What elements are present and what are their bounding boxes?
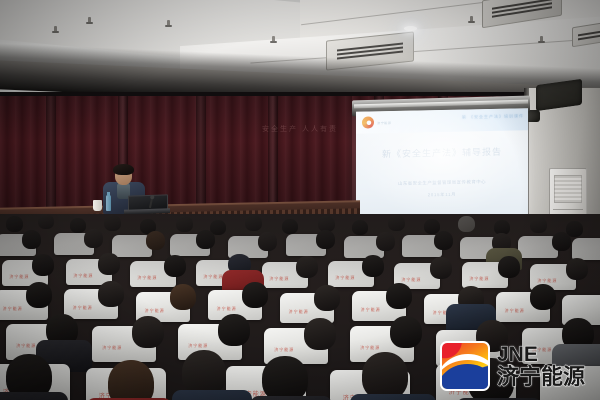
sprinkler-head — [54, 26, 57, 32]
ac-grille — [554, 175, 582, 203]
seat-cover-text: 济宁能源 — [361, 307, 381, 313]
watermark-text: JNE 济宁能源 — [497, 344, 585, 389]
audience-head — [390, 316, 422, 348]
seat-cover-text: 济宁能源 — [537, 278, 557, 284]
spiral-logo-icon — [362, 116, 374, 128]
audience-head — [566, 258, 588, 280]
audience-head — [84, 229, 103, 248]
seat-cover-text: 济宁能源 — [274, 347, 294, 353]
seat-cover-text: 济宁能源 — [102, 345, 122, 351]
audience-head — [242, 282, 268, 308]
audience-head — [70, 218, 86, 233]
seat-cover-text: 济宁能源 — [269, 276, 289, 282]
audience-head — [108, 360, 154, 400]
watermark: JNE 济宁能源 — [440, 341, 585, 391]
presenter-hair — [113, 164, 134, 175]
slide-subtitle-org: 山东省安全生产监督管理局宣传教育中心 — [356, 178, 528, 188]
audience-head — [362, 352, 408, 400]
slide-title: 新《安全生产法》辅导报告 — [356, 144, 528, 161]
audience-head — [22, 230, 41, 249]
audience-head — [98, 281, 124, 307]
audience-head — [352, 220, 368, 235]
audience-shoulders — [0, 392, 68, 400]
audience-head — [430, 257, 452, 279]
audience-shoulders — [172, 390, 252, 400]
seat-cover-text: 济宁能源 — [335, 275, 355, 281]
sprinkler-head — [88, 17, 91, 23]
seat-cover-text: 济宁能源 — [137, 275, 157, 281]
sprinkler-head — [540, 36, 543, 42]
audience-head — [245, 215, 262, 231]
audience-head — [32, 254, 54, 276]
ceiling-downlight — [404, 26, 417, 31]
seat-cover-text: 济宁能源 — [401, 277, 421, 283]
wall-speaker-small — [526, 110, 540, 122]
back-wall-text: 安全生产 人人有责 — [262, 124, 338, 134]
seat-cover-text: 济宁能源 — [9, 274, 29, 280]
audience-head — [530, 217, 547, 233]
audience-head — [104, 215, 121, 231]
conference-hall-photo: 安全生产 人人有责 济宁能源 第 《安全生产法》培训课件 新《安全生产法》辅导报… — [0, 0, 600, 400]
audience-head — [26, 282, 52, 308]
seat-cover-text: 济宁能源 — [145, 308, 165, 314]
audience-head — [530, 284, 556, 310]
audience-head — [552, 232, 571, 251]
seat-cover-text: 济宁能源 — [360, 345, 380, 351]
audience-head — [386, 283, 412, 309]
audience-shoulders — [350, 394, 436, 400]
sprinkler-head — [470, 16, 473, 22]
seat-cover-text: 济宁能源 — [16, 343, 36, 349]
audience-head — [146, 231, 165, 250]
seat-cover-text: 济宁能源 — [203, 274, 223, 280]
audience-head — [296, 256, 318, 278]
water-bottle — [106, 195, 111, 211]
audience-head — [362, 255, 384, 277]
screen-roller — [354, 100, 528, 109]
seat-cover-text: 济宁能源 — [188, 343, 208, 349]
slide-org-name: 济宁能源 — [377, 120, 391, 125]
audience-head — [388, 215, 405, 231]
sprinkler-head — [272, 36, 275, 42]
audience-head — [98, 253, 120, 275]
audience-shoulders — [250, 396, 332, 400]
audience-head — [132, 316, 164, 348]
laptop — [124, 195, 168, 214]
audience-head — [196, 230, 215, 249]
audience-head — [498, 256, 520, 278]
audience-head — [282, 219, 298, 234]
watermark-cn: 济宁能源 — [497, 367, 585, 389]
audience-head — [218, 314, 250, 346]
audience-head — [6, 216, 23, 232]
logo-white-arc — [440, 354, 490, 391]
audience-head — [170, 284, 196, 310]
audience-head — [458, 216, 475, 232]
slide-header-band: 济宁能源 — [356, 108, 528, 134]
audience-head — [434, 231, 453, 250]
seat-cover-text: 济宁能源 — [505, 308, 525, 314]
audience-head — [258, 232, 277, 251]
seat-cover — [572, 238, 600, 260]
audience-head — [304, 318, 336, 350]
slide-subtitle-date: 2015年11月 — [356, 190, 528, 200]
seat-cover-text: 济宁能源 — [3, 306, 23, 312]
audience-head — [262, 356, 308, 400]
projection-screen: 济宁能源 第 《安全生产法》培训课件 新《安全生产法》辅导报告 山东省安全生产监… — [356, 108, 528, 220]
seat-cover-text: 济宁能源 — [73, 305, 93, 311]
audience-head — [176, 216, 193, 232]
audience-head — [38, 214, 54, 229]
sprinkler-head — [167, 20, 170, 26]
watermark-en: JNE — [497, 344, 585, 365]
audience-head — [314, 285, 340, 311]
seat-cover-text: 济宁能源 — [73, 273, 93, 279]
seat-cover-text: 济宁能源 — [469, 276, 489, 282]
audience-head — [316, 230, 335, 249]
audience-head — [376, 232, 395, 251]
seat-cover-text: 济宁能源 — [289, 309, 309, 315]
paper-cup — [93, 200, 102, 211]
jne-logo-icon — [440, 341, 490, 391]
seat-cover-text: 济宁能源 — [217, 306, 237, 312]
audience-head — [164, 255, 186, 277]
